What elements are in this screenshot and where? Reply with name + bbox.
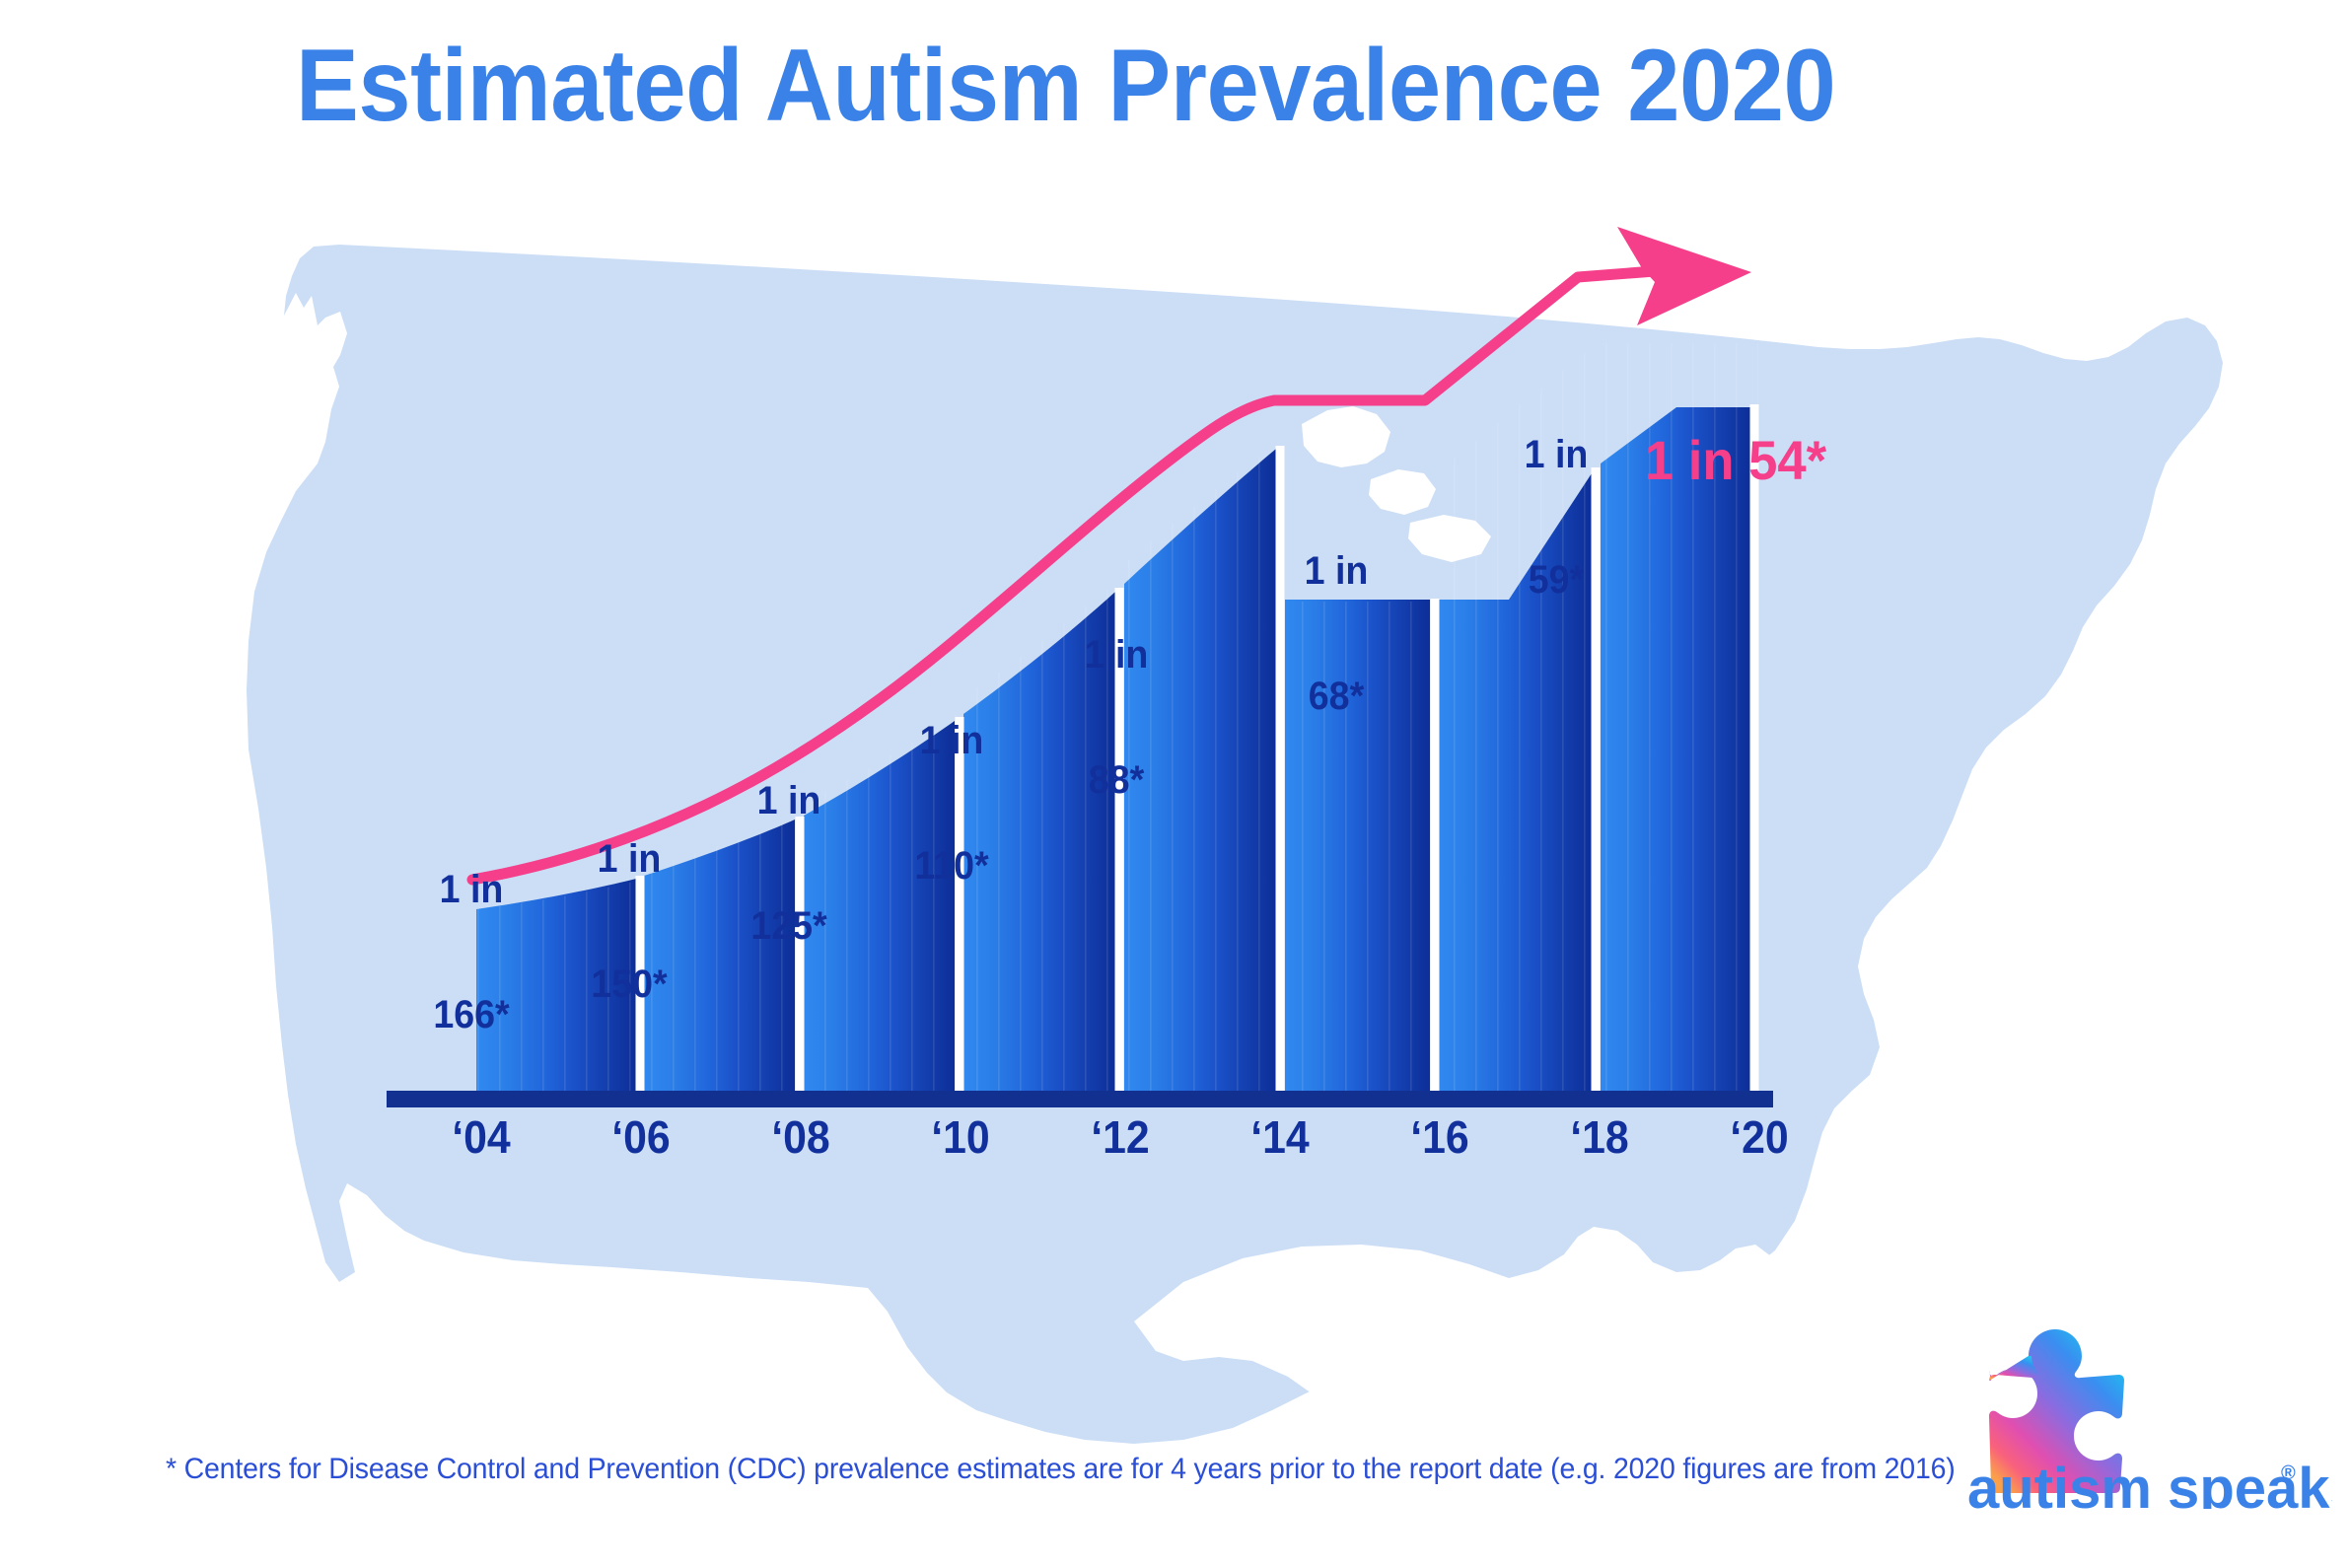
label-2014-line2: 68* xyxy=(1281,676,1392,717)
label-2020-text: 1 in 54* xyxy=(1615,432,1856,490)
baseline-rule xyxy=(387,1091,1773,1107)
xtick-2008: ‘08 xyxy=(728,1110,875,1164)
label-2010-line1: 1 in xyxy=(896,720,1008,761)
label-2008-line2: 125* xyxy=(734,905,845,947)
label-2018-line2: 59* xyxy=(1501,559,1612,601)
label-2010-line2: 110* xyxy=(896,845,1008,887)
label-2014-line1: 1 in xyxy=(1281,550,1392,592)
label-2006-line2: 150* xyxy=(574,963,685,1005)
label-2012-line1: 1 in xyxy=(1061,634,1173,676)
xtick-2004: ‘04 xyxy=(408,1110,555,1164)
xtick-2018: ‘18 xyxy=(1527,1110,1674,1164)
logo-registered-mark: ® xyxy=(2281,1462,2296,1484)
label-2006: 1 in 150* xyxy=(574,754,685,1089)
autism-speaks-logo: autism speaks ® xyxy=(1967,1312,2332,1509)
label-2018-line1: 1 in xyxy=(1501,434,1612,475)
xtick-2012: ‘12 xyxy=(1047,1110,1194,1164)
xtick-2014: ‘14 xyxy=(1207,1110,1354,1164)
label-2004-line1: 1 in xyxy=(416,869,528,910)
label-2012: 1 in 88* xyxy=(1061,550,1173,885)
xtick-2020: ‘20 xyxy=(1686,1110,1833,1164)
infographic-page: Estimated Autism Prevalence 2020 xyxy=(0,0,2351,1568)
label-2018: 1 in 59* xyxy=(1501,350,1612,684)
footnote-text: * Centers for Disease Control and Preven… xyxy=(166,1453,1758,1486)
label-2010: 1 in 110* xyxy=(896,636,1008,970)
xtick-2016: ‘16 xyxy=(1367,1110,1514,1164)
label-2008-line1: 1 in xyxy=(734,780,845,821)
xtick-2010: ‘10 xyxy=(888,1110,1034,1164)
label-2004-line2: 166* xyxy=(416,994,528,1035)
label-2004: 1 in 166* xyxy=(416,785,528,1119)
label-2014: 1 in 68* xyxy=(1281,466,1392,801)
label-2020-highlight: 1 in 54* xyxy=(1615,316,1856,606)
label-2008: 1 in 125* xyxy=(734,696,845,1031)
label-2006-line1: 1 in xyxy=(574,838,685,880)
xtick-2006: ‘06 xyxy=(568,1110,715,1164)
label-2012-line2: 88* xyxy=(1061,759,1173,801)
logo-wordmark: autism speaks xyxy=(1967,1457,2332,1509)
